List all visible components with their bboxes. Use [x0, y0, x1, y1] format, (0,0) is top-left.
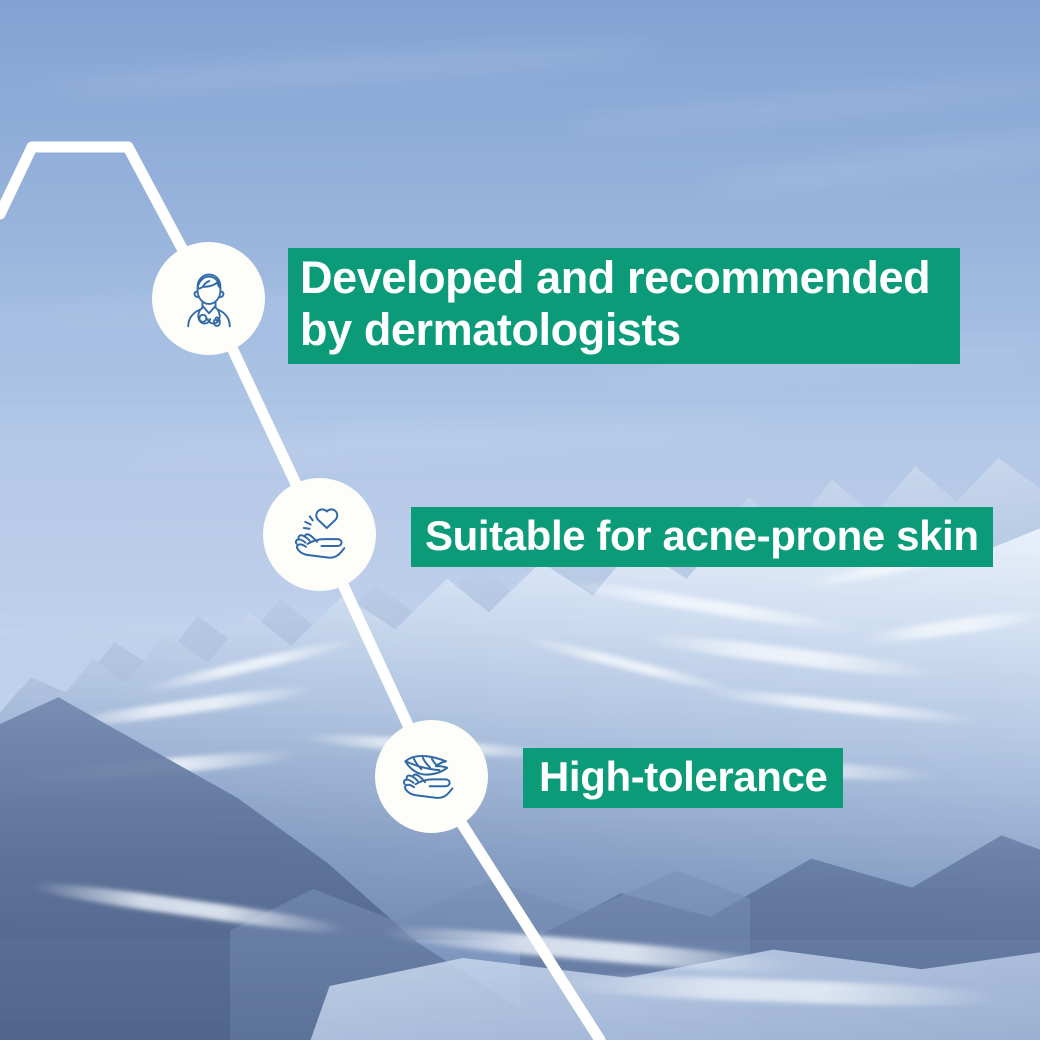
feature-icon-circle-dermatologists[interactable] — [152, 242, 265, 355]
feature-icon-circle-acne-prone[interactable] — [263, 478, 376, 591]
banner-line: Suitable for acne-prone skin — [425, 512, 979, 559]
feature-banner-high-tolerance: High-tolerance — [523, 748, 843, 808]
banner-line: High-tolerance — [539, 753, 827, 800]
banner-line: by dermatologists — [300, 304, 681, 356]
doctor-stethoscope-icon — [174, 264, 244, 334]
hand-heart-icon — [285, 500, 355, 570]
hand-feather-icon — [397, 742, 467, 812]
feature-icon-circle-high-tolerance[interactable] — [375, 720, 488, 833]
banner-line: Developed and recommended — [300, 252, 930, 304]
feature-banner-acne-prone: Suitable for acne-prone skin — [411, 507, 993, 567]
feature-banner-dermatologists: Developed and recommended by dermatologi… — [288, 248, 960, 364]
promo-graphic-stage: Developed and recommended by dermatologi… — [0, 0, 1040, 1040]
